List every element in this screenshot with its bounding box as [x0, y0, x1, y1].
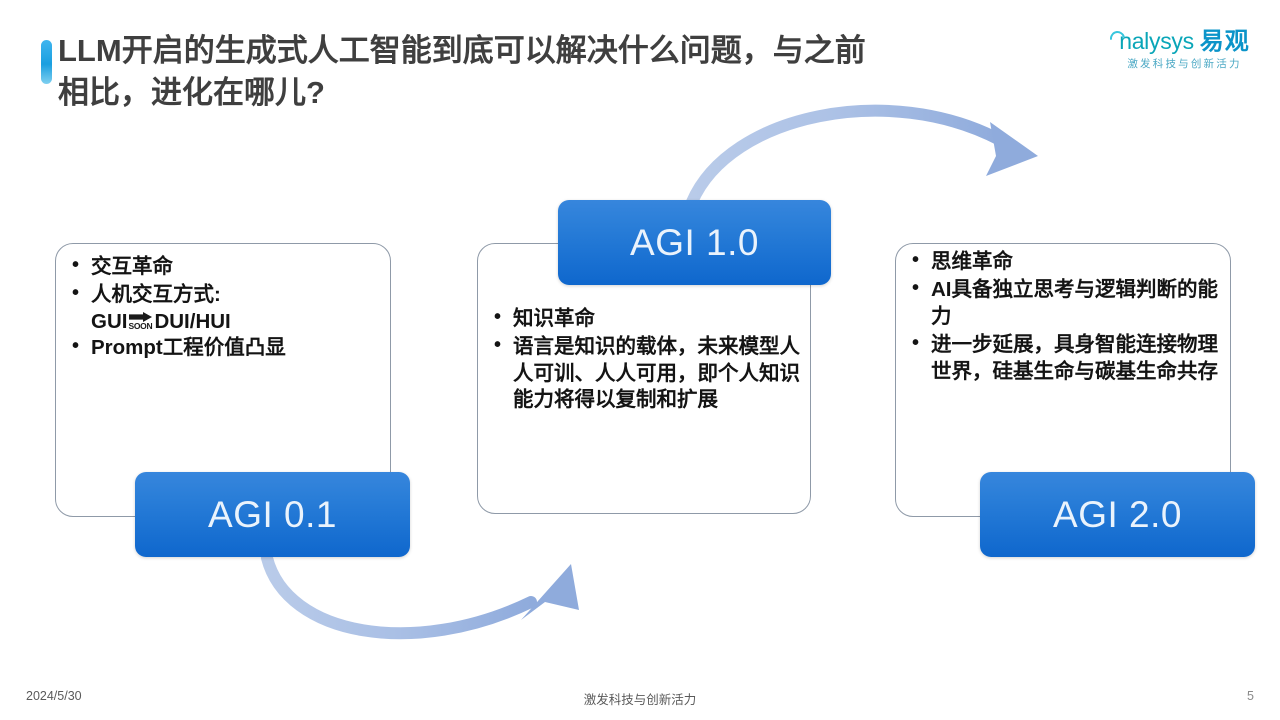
list-item: 思维革命 [910, 249, 1220, 275]
logo-brand-en: nalysys [1119, 28, 1194, 54]
dui-hui-label: DUI/HUI [154, 310, 230, 333]
badge-agi-2-0[interactable]: AGI 2.0 [980, 472, 1255, 557]
list-item: 进一步延展，具身智能连接物理世界，硅基生命与碳基生命共存 [910, 332, 1220, 385]
badge-agi-1-0[interactable]: AGI 1.0 [558, 200, 831, 285]
arrow-agi0-to-agi1 [235, 540, 635, 665]
card-1-bullet-list: 交互革命 人机交互方式: GUI SOON DUI/HUI Prompt工程价值… [70, 254, 380, 364]
slide-header: LLM开启的生成式人工智能到底可以解决什么问题，与之前 相比，进化在哪儿? na… [0, 0, 1280, 140]
soon-word-label: SOON [128, 322, 152, 331]
page-title-line-2: 相比，进化在哪儿? [58, 72, 1088, 114]
slide-root: LLM开启的生成式人工智能到底可以解决什么问题，与之前 相比，进化在哪儿? na… [0, 0, 1280, 720]
analysys-logo: nalysys易观 激发科技与创新活力 [1107, 30, 1262, 70]
title-accent-bar [41, 40, 52, 84]
badge-agi-0-1[interactable]: AGI 0.1 [135, 472, 410, 557]
page-title-line-1: LLM开启的生成式人工智能到底可以解决什么问题，与之前 [58, 30, 1088, 72]
footer-slogan: 激发科技与创新活力 [0, 689, 1280, 708]
logo-tagline: 激发科技与创新活力 [1107, 59, 1262, 70]
list-item: Prompt工程价值凸显 [70, 335, 380, 361]
bullet-line-label: 人机交互方式: [91, 282, 380, 308]
card-2-bullet-list: 知识革命 语言是知识的载体，未来模型人人可训、人人可用，即个人知识能力将得以复制… [492, 306, 800, 416]
list-item: 语言是知识的载体，未来模型人人可训、人人可用，即个人知识能力将得以复制和扩展 [492, 334, 800, 413]
list-item: 交互革命 [70, 254, 380, 280]
logo-wordmark: nalysys易观 [1107, 30, 1262, 54]
page-title: LLM开启的生成式人工智能到底可以解决什么问题，与之前 相比，进化在哪儿? [58, 30, 1088, 115]
slide-footer: 2024/5/30 激发科技与创新活力 5 [0, 680, 1280, 720]
footer-page-number: 5 [1247, 689, 1254, 703]
gui-label: GUI [91, 310, 127, 333]
logo-brand-cn: 易观 [1200, 28, 1250, 55]
list-item: AI具备独立思考与逻辑判断的能力 [910, 277, 1220, 330]
list-item: 知识革命 [492, 306, 800, 332]
bullet-line-gui-dui: GUI SOON DUI/HUI [91, 309, 380, 335]
list-item: 人机交互方式: GUI SOON DUI/HUI [70, 282, 380, 335]
soon-arrow-svg [129, 312, 152, 322]
soon-arrow-icon: SOON [128, 311, 153, 330]
card-3-bullet-list: 思维革命 AI具备独立思考与逻辑判断的能力 进一步延展，具身智能连接物理世界，硅… [910, 249, 1220, 387]
